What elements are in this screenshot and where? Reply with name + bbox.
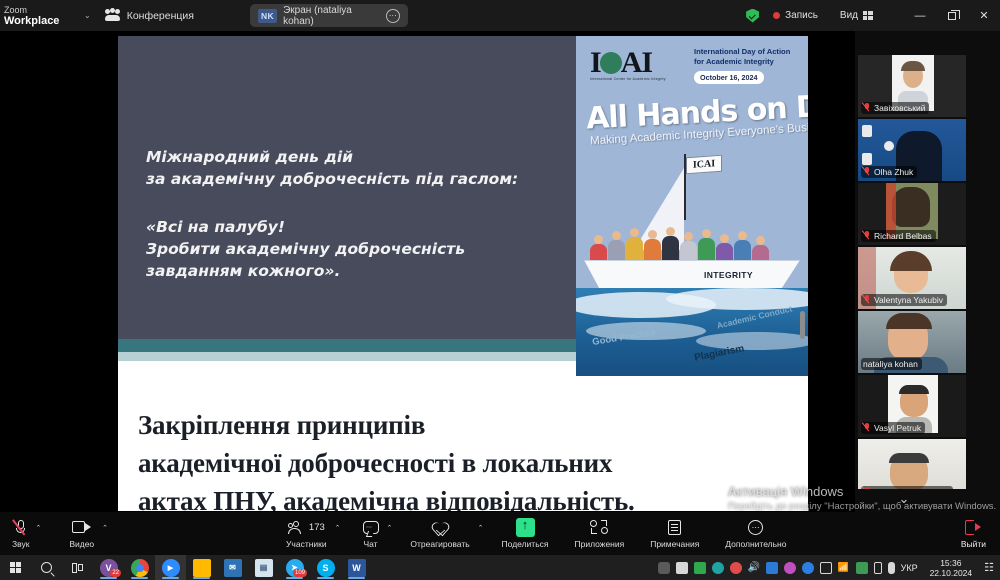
participant-tile[interactable]: Richard Belbas: [858, 183, 966, 245]
taskbar-clock[interactable]: 15:36 22.10.2024: [930, 558, 973, 578]
sharer-initials-badge: NK: [258, 9, 277, 23]
notification-center-icon[interactable]: ☷: [984, 561, 994, 574]
taskbar-search-button[interactable]: [31, 555, 62, 580]
mail-icon: ✉: [224, 559, 242, 577]
tray-icon-updater[interactable]: [694, 562, 706, 574]
participant-name-badge: Завіховський: [861, 102, 929, 114]
view-button[interactable]: Вид: [840, 10, 874, 21]
person-hair: [899, 385, 929, 394]
participant-name-badge: Vasyl Petruk: [861, 422, 925, 434]
participant-tile[interactable]: Olha Zhuk: [858, 119, 966, 181]
word-icon: W: [348, 559, 366, 577]
share-label: Поделиться: [502, 539, 549, 549]
meeting-tab-label: Конференция: [127, 10, 194, 22]
app-running-underline: [317, 577, 334, 579]
person-head: [892, 187, 930, 227]
icai-poster-image: IAI International Center for Academic In…: [576, 36, 808, 376]
mic-muted-icon: [863, 167, 871, 177]
participant-name: Завіховський: [874, 103, 925, 113]
chat-button[interactable]: ⋯ Чат: [363, 519, 379, 549]
boat-flag-icai: ICAI: [686, 155, 722, 175]
clock-time: 15:36: [930, 558, 973, 568]
participant-name: Richard Belbas: [874, 231, 932, 241]
apps-label: Приложения: [574, 539, 624, 549]
participants-label: Участники: [286, 539, 327, 549]
participant-tile[interactable]: Roman Dzumedzey: [858, 439, 966, 489]
taskbar-app-file-explorer[interactable]: [186, 555, 217, 580]
zoom-meeting-window: Zoom Workplace ⌄ Конференция NK Экран (n…: [0, 0, 1000, 580]
participant-tile[interactable]: Vasyl Petruk: [858, 375, 966, 437]
meeting-tab[interactable]: Конференция: [105, 9, 194, 22]
avatar-hair: [901, 61, 925, 71]
participant-name: Valentyna Yakubiv: [874, 295, 943, 305]
maximize-icon: [948, 12, 956, 20]
start-button[interactable]: [0, 555, 31, 580]
volume-icon[interactable]: 🔊: [748, 562, 760, 574]
participants-button[interactable]: 173 Участники: [286, 519, 327, 549]
notepad-icon: ▤: [255, 559, 273, 577]
task-view-button[interactable]: [62, 555, 93, 580]
folder-icon: [193, 559, 211, 577]
skype-icon: S: [317, 559, 335, 577]
search-icon: [41, 562, 52, 573]
tray-icon-shield[interactable]: [856, 562, 868, 574]
app-running-underline: [286, 577, 303, 579]
wave: [696, 332, 808, 350]
audio-button[interactable]: Звук: [12, 519, 29, 549]
icai-logo-subtitle: International Center for Academic Integr…: [590, 77, 666, 81]
brand-line1: Zoom: [4, 5, 78, 16]
slide-scrollbar-thumb[interactable]: [800, 311, 805, 339]
tray-icon-app2[interactable]: [802, 562, 814, 574]
participant-tile-active-speaker[interactable]: nataliya kohan: [858, 311, 966, 373]
minimize-button[interactable]: —: [904, 0, 936, 31]
share-screen-icon: [516, 519, 535, 536]
telegram-badge: 109: [293, 569, 307, 577]
poster-header: IAI International Center for Academic In…: [576, 46, 808, 92]
app-running-underline: [131, 577, 148, 579]
tray-icon-onedrive[interactable]: [676, 562, 688, 574]
person-hair: [889, 453, 929, 463]
taskbar-app-telegram[interactable]: ➤ 109: [279, 555, 310, 580]
chat-icon: ⋯: [363, 519, 379, 536]
recording-dot-icon: [773, 12, 780, 19]
taskbar-app-mail[interactable]: ✉: [217, 555, 248, 580]
participant-tile[interactable]: Valentyna Yakubiv: [858, 247, 966, 309]
tray-icon-display[interactable]: [820, 562, 832, 574]
people-icon: [105, 9, 120, 22]
view-label: Вид: [840, 10, 858, 21]
video-label: Видео: [69, 539, 94, 549]
app-running-underline: [348, 577, 365, 579]
apps-button[interactable]: Приложения: [574, 519, 624, 549]
chat-label: Чат: [363, 539, 377, 549]
participant-name-badge: Olha Zhuk: [861, 166, 917, 178]
windows-activation-watermark: Активація Windows Перейдіть до розділу "…: [728, 484, 998, 513]
task-view-icon: [72, 563, 84, 573]
react-label: Отреагировать: [410, 539, 469, 549]
taskbar-app-notepad[interactable]: ▤: [248, 555, 279, 580]
top-bar-right-controls: Запись Вид — ✕: [746, 0, 1000, 31]
participants-count: 173: [309, 522, 325, 533]
system-tray: 🔊 📶 УКР 15:36 22.10.2024 ☷: [658, 558, 1000, 578]
mic-muted-icon: [16, 519, 25, 536]
participant-name: Vasyl Petruk: [874, 423, 921, 433]
participant-name-badge: Valentyna Yakubiv: [861, 294, 947, 306]
notes-button[interactable]: Примечания: [650, 519, 699, 549]
poster-label-integrity: INTEGRITY: [704, 270, 753, 280]
apps-icon: [590, 519, 608, 536]
mic-muted-icon: [863, 423, 871, 433]
poster-title-line1: International Day of Action: [694, 47, 808, 57]
tray-icon-info[interactable]: [766, 562, 778, 574]
windows-logo-icon: [10, 562, 22, 574]
slide-italic-line4: Зробити академічну доброчесність: [146, 238, 576, 260]
icai-logo: IAI: [590, 46, 652, 80]
leave-icon: [965, 519, 981, 536]
share-source-label: Экран (nataliya kohan): [283, 5, 380, 27]
react-options-chevron-icon[interactable]: ⌃: [478, 524, 484, 532]
slide-italic-line5: завданням кожного».: [146, 260, 576, 282]
layout-grid-icon: [863, 11, 874, 20]
video-button[interactable]: Видео: [69, 519, 94, 549]
slide-italic-line1: Міжнародний день дій: [146, 146, 576, 168]
tray-icon-teams[interactable]: [712, 562, 724, 574]
maximize-button[interactable]: [936, 0, 968, 31]
slide-thumb: [862, 125, 872, 137]
person-hair: [886, 313, 932, 329]
clock-date: 22.10.2024: [930, 568, 973, 578]
poster-boat-illustration: ICAI INTEGRITY: [576, 148, 808, 376]
mic-muted-icon: [863, 103, 871, 113]
taskbar-app-word[interactable]: W: [341, 555, 372, 580]
react-button[interactable]: Отреагировать: [410, 519, 469, 549]
watermark-title: Активація Windows: [728, 484, 998, 499]
more-button[interactable]: ⋯ Дополнительно: [725, 519, 786, 549]
slide-italic-line3: «Всі на палубу!: [146, 216, 576, 238]
zoom-icon: ▶: [162, 559, 180, 577]
participant-name: Olha Zhuk: [874, 167, 913, 177]
taskbar-app-skype[interactable]: S: [310, 555, 341, 580]
mic-muted-icon: [863, 231, 871, 241]
poster-date-chip: October 16, 2024: [694, 71, 764, 84]
slide-heading-line2: академічної доброчесності в локальних: [138, 444, 808, 482]
screen-share-indicator[interactable]: NK Экран (nataliya kohan) ⋯: [250, 4, 408, 27]
brand-chevron-down-icon[interactable]: ⌄: [84, 11, 91, 20]
heart-icon: [433, 519, 448, 536]
globe-icon: [600, 52, 622, 74]
viber-badge: 22: [110, 569, 121, 577]
close-button[interactable]: ✕: [968, 0, 1000, 31]
zoom-top-bar: Zoom Workplace ⌄ Конференция NK Экран (n…: [0, 0, 1000, 31]
app-running-underline: [193, 577, 210, 579]
recording-label: Запись: [785, 10, 818, 21]
tray-icon-antivirus[interactable]: [730, 562, 742, 574]
participant-name-badge: Richard Belbas: [861, 230, 936, 242]
windows-taskbar: V 22 ▶ ✉ ▤ ➤ 109 S: [0, 555, 1000, 580]
slide-heading-line3: актах ПНУ, академічна відповідальність.: [138, 482, 808, 511]
presentation-slide: Міжнародний день дій за академічну добро…: [118, 36, 808, 511]
leave-button[interactable]: Выйти: [961, 519, 986, 549]
slide-italic-text: Міжнародний день дій за академічну добро…: [146, 146, 576, 282]
app-running-underline: [162, 577, 179, 579]
notes-label: Примечания: [650, 539, 699, 549]
recording-indicator[interactable]: Запись: [773, 10, 818, 21]
tray-icon-discord[interactable]: [658, 562, 670, 574]
network-icon[interactable]: 📶: [838, 562, 850, 574]
leave-label: Выйти: [961, 539, 986, 549]
zoom-bottom-toolbar: Звук ⌃ Видео ⌃ 173 Участники ⌃ ⋯ Чат ⌃ О…: [0, 512, 1000, 555]
more-label: Дополнительно: [725, 539, 786, 549]
slide-italic-line2: за академічну доброчесність під гаслом:: [146, 168, 576, 190]
participants-icon: 173: [288, 519, 325, 536]
tray-icon-app[interactable]: [784, 562, 796, 574]
encryption-shield-icon[interactable]: [746, 9, 759, 23]
slide-thumb: [862, 153, 872, 165]
slide-heading-line1: Закріплення принципів: [138, 406, 808, 444]
slide-heading: Закріплення принципів академічної доброч…: [138, 406, 808, 511]
mic-muted-icon: [863, 295, 871, 305]
chrome-icon: [131, 559, 149, 577]
share-button[interactable]: Поделиться: [502, 519, 549, 549]
notes-icon: [668, 519, 681, 536]
audio-options-chevron-icon[interactable]: ⌃: [35, 524, 41, 532]
audio-label: Звук: [12, 539, 29, 549]
chat-options-chevron-icon[interactable]: ⌃: [387, 524, 393, 532]
taskbar-app-chrome[interactable]: [124, 555, 155, 580]
participant-video-strip[interactable]: Завіховський Olha Zhuk Richard Bel: [858, 55, 966, 489]
video-options-chevron-icon[interactable]: ⌃: [102, 524, 108, 532]
poster-sea: Good Practice Plagiarism Academic Conduc…: [576, 288, 808, 376]
participants-options-chevron-icon[interactable]: ⌃: [335, 524, 341, 532]
brand-line2: Workplace: [4, 16, 78, 27]
participant-name-badge: nataliya kohan: [861, 358, 922, 370]
poster-title-line2: for Academic Integrity: [694, 57, 808, 67]
participant-name: nataliya kohan: [863, 359, 918, 369]
participant-video: [858, 439, 966, 489]
zoom-brand: Zoom Workplace: [0, 5, 78, 27]
app-running-underline: [100, 577, 117, 579]
participant-tile[interactable]: Завіховський: [858, 55, 966, 117]
language-indicator[interactable]: УКР: [901, 563, 918, 573]
more-icon: ⋯: [748, 519, 763, 536]
taskbar-app-viber[interactable]: V 22: [93, 555, 124, 580]
battery-icon[interactable]: [874, 562, 882, 574]
person-hair: [890, 251, 932, 271]
taskbar-app-zoom[interactable]: ▶: [155, 555, 186, 580]
poster-title-block: International Day of Action for Academic…: [694, 47, 808, 85]
camera-icon: [72, 519, 91, 536]
tray-icon-mic[interactable]: [888, 562, 895, 574]
share-more-options-icon[interactable]: ⋯: [386, 9, 400, 23]
slide-thumb: [884, 141, 894, 151]
shared-screen-stage[interactable]: Міжнародний день дій за академічну добро…: [0, 31, 855, 512]
